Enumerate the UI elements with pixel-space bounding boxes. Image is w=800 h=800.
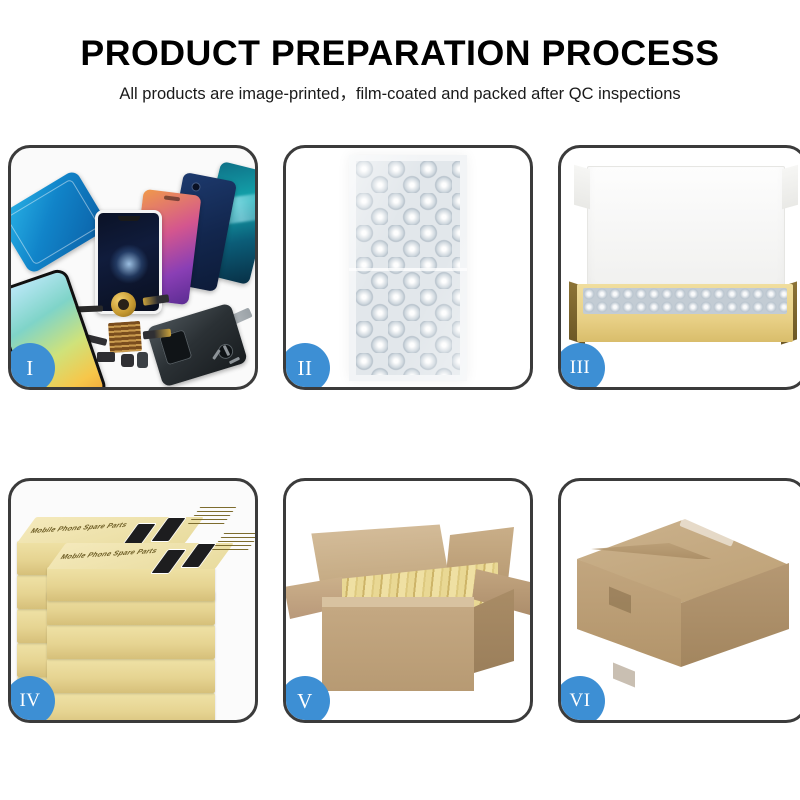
step-card-4: Mobile Phone Spare Parts Mobile Phone Sp… [8,478,258,723]
step-card-6: VI [558,478,800,723]
retail-box-spec-lines-back [186,507,237,527]
step-badge-4: IV [8,676,55,723]
step-badge-1: I [8,343,55,390]
retail-box-front-3 [47,625,215,659]
plastic-sheen [349,155,467,381]
page-header: PRODUCT PREPARATION PROCESS All products… [0,0,800,103]
step-badge-5: V [283,676,330,723]
carton-handle-tab-bottom [613,663,635,688]
carton-front-face [322,607,474,691]
retail-box-front-5 [47,693,215,720]
retail-box-front-4 [47,659,215,693]
battery-connector-part [137,352,148,368]
screws-group [213,345,247,371]
step-card-2: II [283,145,533,390]
retail-box-spec-lines-front [210,533,255,553]
step-card-5: V [283,478,533,723]
speaker-coil-part [111,292,136,317]
step-badge-3: III [558,343,605,390]
process-steps-grid: I II III [8,145,792,723]
retail-box-front-1 [47,567,215,601]
step-card-3: III [558,145,800,390]
connector-part-2 [121,354,134,367]
page-title: PRODUCT PREPARATION PROCESS [0,36,800,73]
connector-part-1 [97,352,115,362]
step-card-1: I [8,145,258,390]
page-subtitle: All products are image-printed，film-coat… [0,85,800,103]
bubble-wrap-pouch [349,155,467,381]
step-badge-6: VI [558,676,605,723]
inner-box-lid [587,166,785,296]
bubble-wrapped-contents [583,288,787,314]
ic-chip-grid-part [108,321,142,353]
step-badge-2: II [283,343,330,390]
